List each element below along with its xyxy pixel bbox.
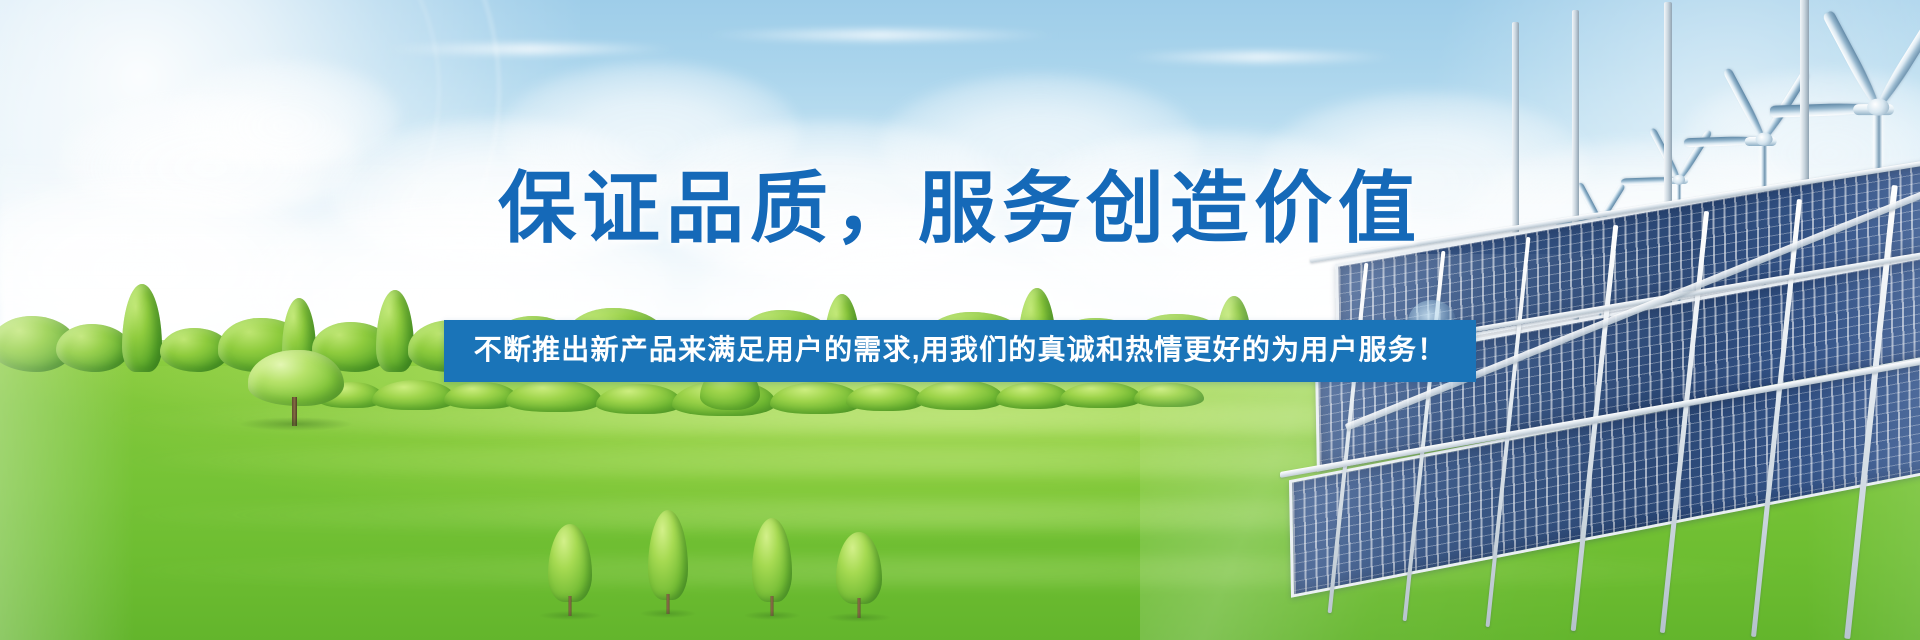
subtitle-bar-wrapper: 不断推出新产品来满足用户的需求,用我们的真诚和热情更好的为用户服务！ — [0, 320, 1920, 382]
turbine-hub — [1867, 99, 1889, 116]
subtitle-banner: 不断推出新产品来满足用户的需求,用我们的真诚和热情更好的为用户服务！ — [444, 320, 1477, 382]
hero-banner: 保证品质，服务创造价值 不断推出新产品来满足用户的需求,用我们的真诚和热情更好的… — [0, 0, 1920, 640]
page-title: 保证品质，服务创造价值 — [0, 168, 1920, 250]
turbine-hub — [1756, 133, 1773, 146]
